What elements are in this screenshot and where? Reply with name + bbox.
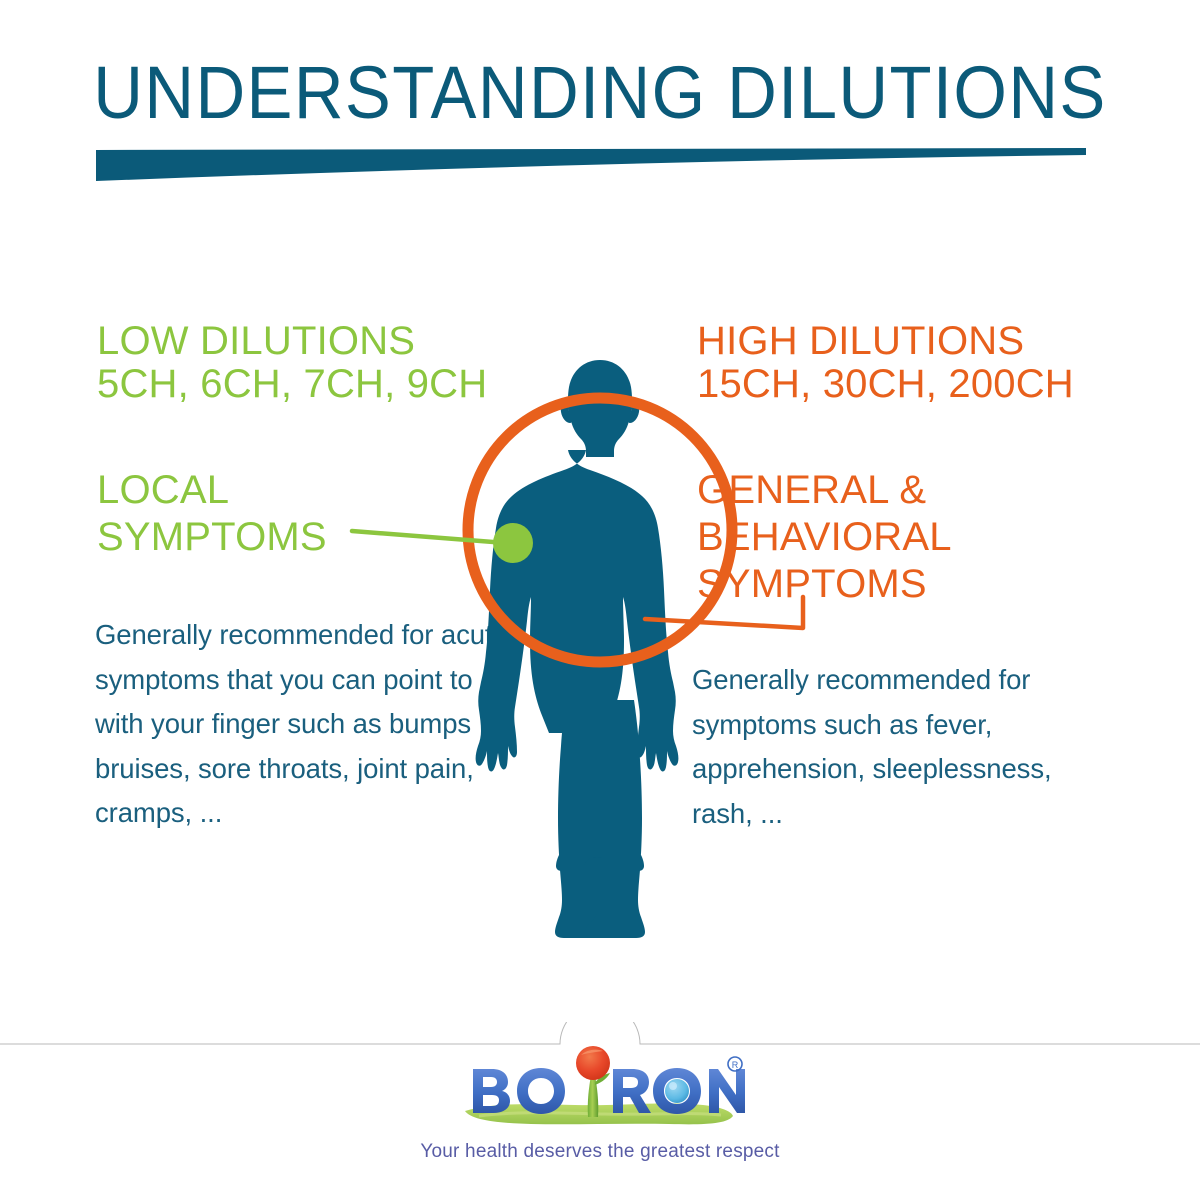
svg-text:R: R (732, 1060, 739, 1070)
logo-orb-highlight (669, 1082, 677, 1090)
registered-trademark-icon: R (728, 1057, 742, 1071)
page-title: UNDERSTANDING DILUTIONS (42, 56, 1158, 130)
low-dilutions-description: Generally recommended for acute symptoms… (95, 613, 525, 836)
general-symptoms-line2: BEHAVIORAL (697, 514, 952, 561)
general-symptoms-line1: GENERAL & (697, 467, 952, 514)
infographic-page: UNDERSTANDING DILUTIONS LOW DILUTIONS 5C… (0, 0, 1200, 1200)
general-behavioral-symptoms-label: GENERAL & BEHAVIORAL SYMPTOMS (697, 467, 952, 609)
local-symptoms-label: LOCAL SYMPTOMS (97, 467, 327, 561)
high-dilutions-heading: HIGH DILUTIONS 15CH, 30CH, 200CH (697, 320, 1074, 406)
local-symptoms-line2: SYMPTOMS (97, 514, 327, 561)
high-dilutions-description: Generally recommended for symptoms such … (692, 658, 1112, 836)
general-symptoms-line3: SYMPTOMS (697, 561, 952, 608)
high-dilutions-heading-line2: 15CH, 30CH, 200CH (697, 363, 1074, 406)
title-underline-wedge (96, 148, 1086, 188)
low-dilutions-heading-line2: 5CH, 6CH, 7CH, 9CH (97, 363, 487, 406)
high-dilutions-heading-line1: HIGH DILUTIONS (697, 320, 1074, 363)
low-dilutions-heading: LOW DILUTIONS 5CH, 6CH, 7CH, 9CH (97, 320, 487, 406)
footer-logo-block: R Your health deserves the greatest resp… (0, 1045, 1200, 1163)
boiron-logo: R (455, 1045, 745, 1131)
low-dilutions-heading-line1: LOW DILUTIONS (97, 320, 487, 363)
logo-blue-orb (665, 1079, 689, 1103)
local-symptoms-connector-line (352, 531, 506, 543)
local-symptoms-line1: LOCAL (97, 467, 327, 514)
brand-tagline: Your health deserves the greatest respec… (420, 1141, 779, 1163)
local-symptom-marker-dot (493, 523, 533, 563)
